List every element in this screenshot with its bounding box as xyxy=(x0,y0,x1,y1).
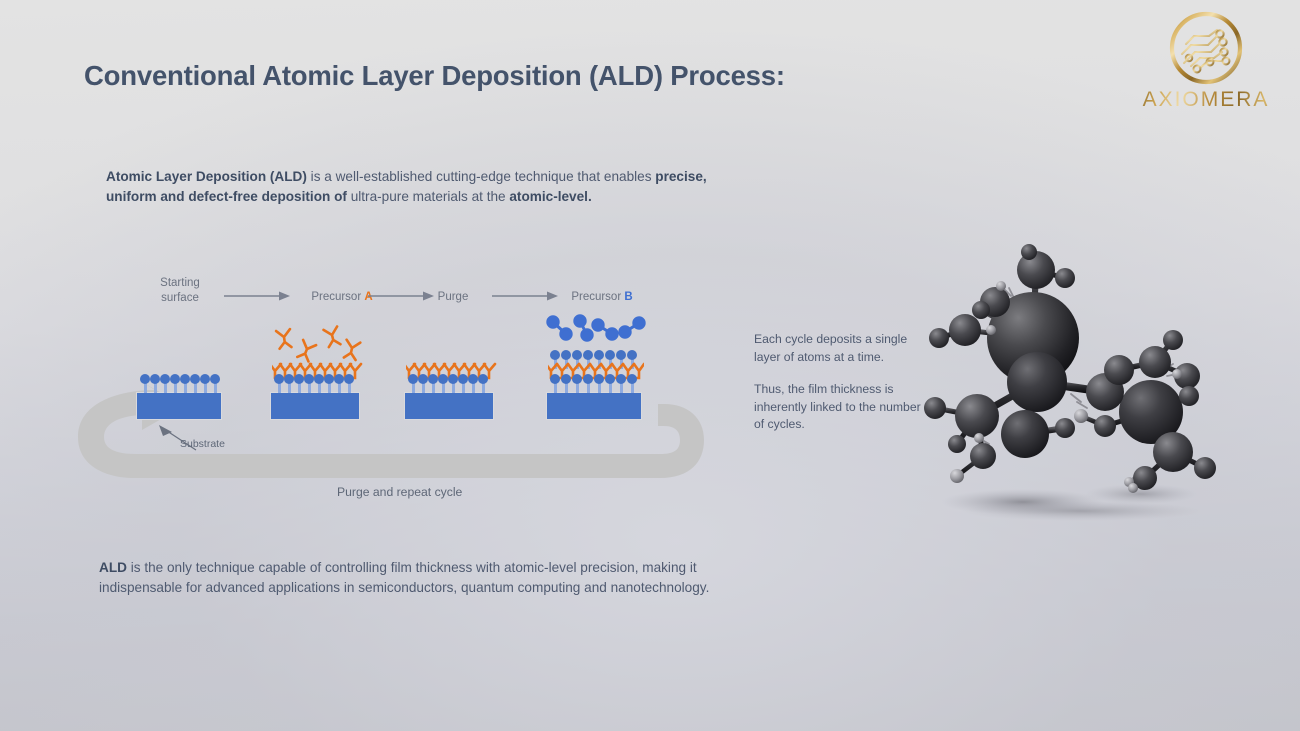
molecule-3d-render xyxy=(905,230,1245,530)
bottom-paragraph: ALD is the only technique capable of con… xyxy=(99,558,759,598)
substrate-block xyxy=(404,392,494,420)
slide-canvas: Conventional Atomic Layer Deposition (AL… xyxy=(0,0,1300,731)
intro-text-1: is a well-established cutting-edge techn… xyxy=(307,169,655,184)
brand-logo: AXIOMERA xyxy=(1128,6,1284,124)
substrate-block xyxy=(270,392,360,420)
side-note: Each cycle deposits a single layer of at… xyxy=(754,331,924,434)
substrate-label: Substrate xyxy=(180,438,225,450)
page-title: Conventional Atomic Layer Deposition (AL… xyxy=(84,60,785,92)
diagram-step-starting-surface xyxy=(136,300,226,425)
intro-bold-end: atomic-level. xyxy=(509,189,591,204)
free-precursor-b-molecules xyxy=(546,314,646,348)
diagram-step-purge xyxy=(404,300,499,425)
cycle-caption: Purge and repeat cycle xyxy=(337,485,462,499)
substrate-block xyxy=(546,392,642,420)
substrate-block xyxy=(136,392,222,420)
bottom-bold-lead: ALD xyxy=(99,560,127,575)
brand-wordmark: AXIOMERA xyxy=(1128,88,1284,112)
flow-label-line1: Starting xyxy=(160,277,200,289)
diagram-step-precursor-b xyxy=(546,300,646,425)
intro-paragraph: Atomic Layer Deposition (ALD) is a well-… xyxy=(106,167,746,207)
bottom-text: is the only technique capable of control… xyxy=(99,560,709,595)
gold-circuit-circle-icon xyxy=(1164,6,1248,90)
intro-text-2: ultra-pure materials at the xyxy=(347,189,509,204)
intro-bold-lead: Atomic Layer Deposition (ALD) xyxy=(106,169,307,184)
side-note-line-2: Thus, the film thickness is inherently l… xyxy=(754,381,924,434)
diagram-step-precursor-a xyxy=(270,300,365,425)
side-note-line-1: Each cycle deposits a single layer of at… xyxy=(754,331,924,366)
